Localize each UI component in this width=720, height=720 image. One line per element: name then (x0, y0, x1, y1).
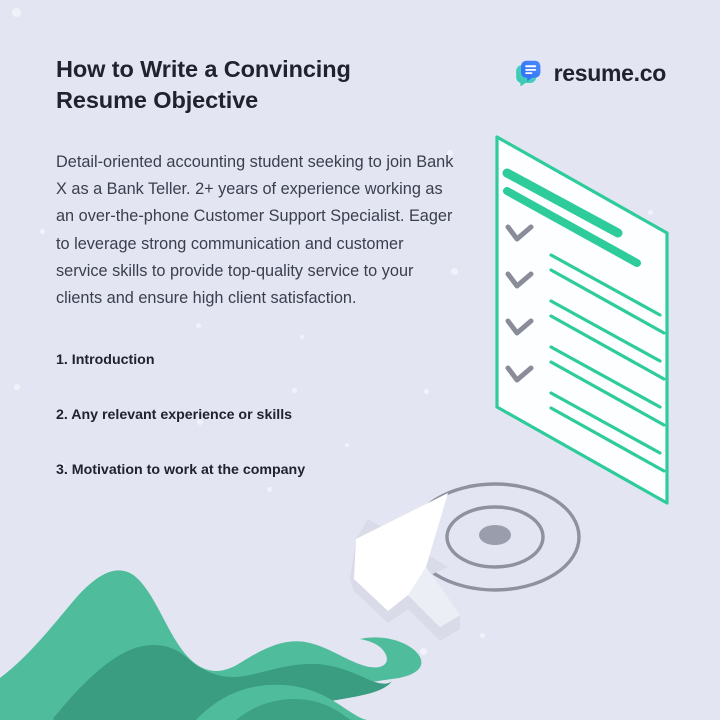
brand-name: resume.co (554, 60, 666, 87)
background-speckle (300, 335, 304, 339)
page-title-line-2: Resume Objective (56, 87, 258, 113)
page-title: How to Write a ConvincingResume Objectiv… (56, 54, 436, 116)
ripple-center-dot (479, 525, 511, 545)
list-item: 1. Introduction (56, 350, 456, 405)
header: How to Write a ConvincingResume Objectiv… (0, 0, 720, 120)
page-title-line-1: How to Write a Convincing (56, 56, 351, 82)
document-chat-bubble-icon (513, 58, 543, 88)
background-speckle (40, 229, 45, 234)
green-wave-decoration (0, 545, 720, 720)
brand-logo[interactable]: resume.co (513, 56, 666, 90)
objective-paragraph: Detail-oriented accounting student seeki… (56, 149, 456, 312)
infographic-card: How to Write a ConvincingResume Objectiv… (0, 0, 720, 720)
list-item: 2. Any relevant experience or skills (56, 405, 456, 460)
background-speckle (196, 323, 201, 328)
background-speckle (14, 384, 20, 390)
